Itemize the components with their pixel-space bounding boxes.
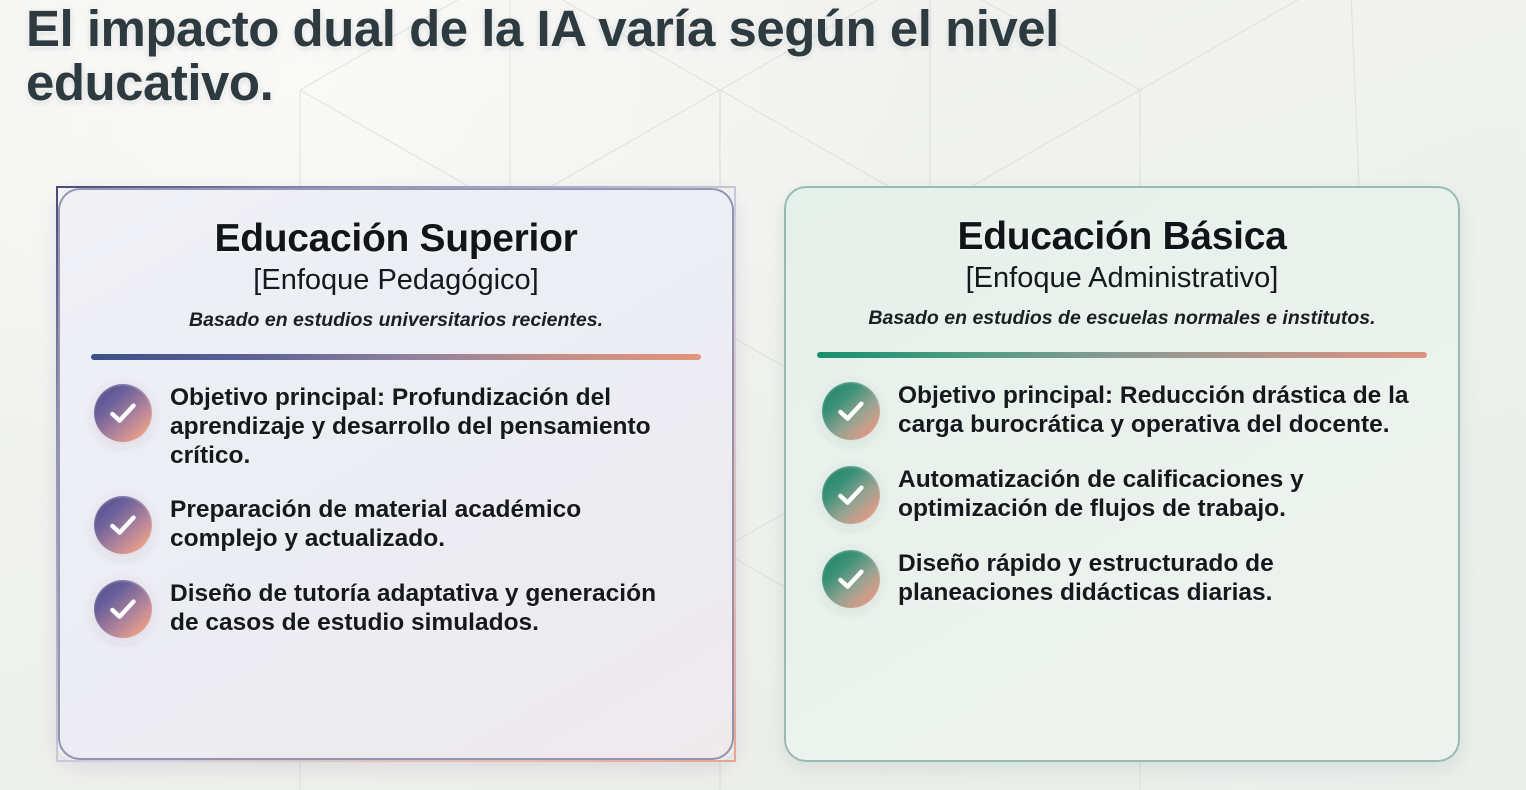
card-accent-divider	[817, 352, 1427, 358]
card-note: Basado en estudios universitarios recien…	[88, 309, 704, 332]
card-title: Educación Básica	[814, 216, 1430, 258]
card-subtitle: [Enfoque Administrativo]	[814, 262, 1430, 295]
card-note: Basado en estudios de escuelas normales …	[814, 307, 1430, 330]
card-educacion-superior: Educación Superior [Enfoque Pedagógico] …	[56, 186, 736, 762]
list-item: Automatización de calificaciones y optim…	[814, 462, 1430, 524]
list-item: Preparación de material académico comple…	[88, 492, 704, 554]
card-educacion-basica: Educación Básica [Enfoque Administrativo…	[784, 186, 1460, 762]
list-item-text: Preparación de material académico comple…	[170, 492, 670, 553]
list-item: Objetivo principal: Profundización del a…	[88, 380, 704, 470]
page-title: El impacto dual de la IA varía según el …	[26, 2, 1266, 110]
check-circle-icon	[822, 382, 880, 440]
list-item-text: Diseño de tutoría adaptativa y generació…	[170, 576, 670, 637]
feature-list: Objetivo principal: Reducción drástica d…	[814, 378, 1430, 608]
list-item: Diseño de tutoría adaptativa y generació…	[88, 576, 704, 638]
check-circle-icon	[94, 496, 152, 554]
check-circle-icon	[94, 580, 152, 638]
list-item-text: Objetivo principal: Reducción drástica d…	[898, 378, 1418, 439]
card-subtitle: [Enfoque Pedagógico]	[88, 264, 704, 297]
check-circle-icon	[822, 550, 880, 608]
list-item-text: Objetivo principal: Profundización del a…	[170, 380, 670, 470]
card-accent-divider	[91, 354, 701, 360]
list-item: Diseño rápido y estructurado de planeaci…	[814, 546, 1430, 608]
list-item-text: Diseño rápido y estructurado de planeaci…	[898, 546, 1418, 607]
check-circle-icon	[94, 384, 152, 442]
list-item-text: Automatización de calificaciones y optim…	[898, 462, 1418, 523]
check-circle-icon	[822, 466, 880, 524]
comparison-cards-container: Educación Superior [Enfoque Pedagógico] …	[56, 186, 1460, 762]
list-item: Objetivo principal: Reducción drástica d…	[814, 378, 1430, 440]
card-title: Educación Superior	[88, 218, 704, 260]
feature-list: Objetivo principal: Profundización del a…	[88, 380, 704, 638]
